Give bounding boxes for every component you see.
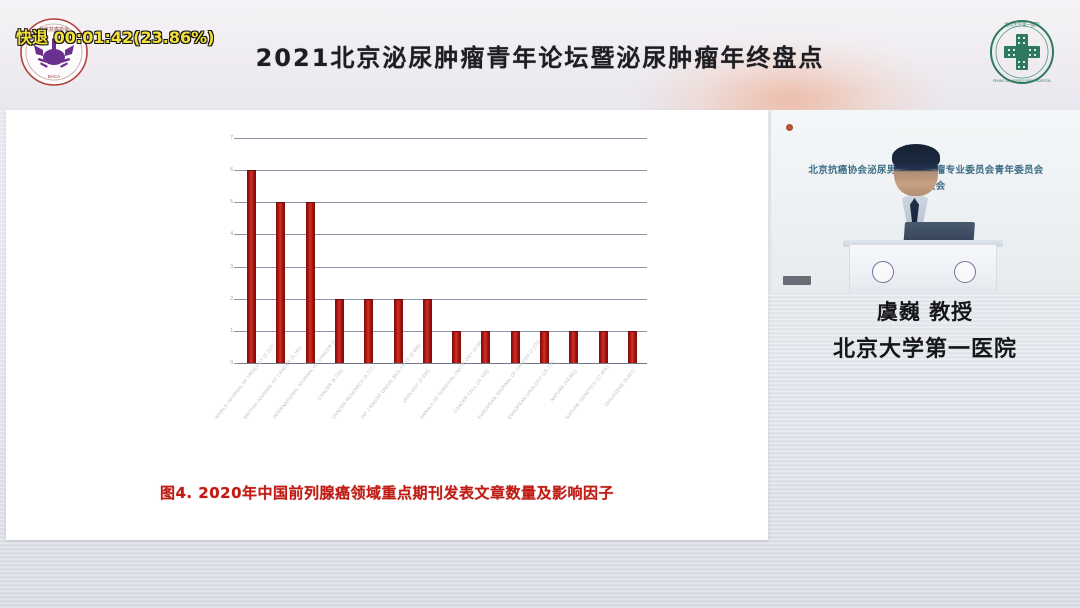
y-axis-tick-label: 6 [217,167,233,173]
y-axis-tick-mark [234,202,238,203]
speaker-affiliation: 北京大学第一医院 [770,331,1080,363]
y-axis-tick-mark [234,234,238,235]
y-axis-tick-mark [234,267,238,268]
chart-gridline [237,363,647,364]
recording-dot-icon [786,124,793,131]
y-axis-tick-label: 3 [217,264,233,270]
bar-chart: 01234567WORLD JOURNAL OF UROLOGY (2.237)… [211,138,651,468]
chart-bar [306,202,315,363]
chart-gridline [237,331,647,332]
y-axis-tick-label: 2 [217,296,233,302]
svg-text:北京大学第一医院: 北京大学第一医院 [1004,21,1040,28]
glasses-icon [899,170,933,178]
speaker-name: 虞巍 教授 [770,296,1080,326]
podium [849,244,997,293]
chart-bar [628,331,637,363]
figure-caption: 图4. 2020年中国前列腺癌领域重点期刊发表文章数量及影响因子 [6,482,768,503]
presentation-slide: 01234567WORLD JOURNAL OF UROLOGY (2.237)… [6,110,768,540]
chart-bar [423,299,432,363]
chart-bar [452,331,461,363]
peking-university-first-hospital-logo: 北京大学第一医院 PEKING UNIVERSITY FIRST HOSPITA… [982,12,1062,92]
y-axis-tick-mark [234,170,238,171]
speaker-video-panel[interactable]: 单位 北京抗癌协会泌尿男生殖系肿瘤专业委员会青年委员会 成立大会 [770,110,1080,293]
y-axis-tick-label: 5 [217,199,233,205]
chart-gridline [237,234,647,235]
y-axis-tick-label: 0 [217,360,233,366]
y-axis-tick-mark [234,363,238,364]
chart-bar [276,202,285,363]
y-axis-tick-mark [234,331,238,332]
chart-bar [394,299,403,363]
chart-bar [511,331,520,363]
chart-bar [364,299,373,363]
podium-seal-left-icon [872,261,894,283]
podium-seal-right-icon [954,261,976,283]
video-controls-overlay[interactable] [783,276,811,285]
chart-bar [569,331,578,363]
speaker-hair [892,144,940,170]
chart-bar [599,331,608,363]
y-axis-tick-label: 1 [217,328,233,334]
y-axis-tick-mark [234,299,238,300]
page-title: 2021北京泌尿肿瘤青年论坛暨泌尿肿瘤年终盘点 [0,0,1080,110]
chart-bar [481,331,490,363]
chart-bar [335,299,344,363]
chart-bar [247,170,256,363]
y-axis-tick-mark [234,138,238,139]
slide-header-band: 2021北京泌尿肿瘤青年论坛暨泌尿肿瘤年终盘点 [0,0,1080,110]
speaker-caption: 虞巍 教授 北京大学第一医院 [770,296,1080,363]
y-axis-tick-label: 4 [217,231,233,237]
svg-text:PEKING UNIVERSITY FIRST HOSPIT: PEKING UNIVERSITY FIRST HOSPITAL [993,79,1052,83]
svg-text:BACA: BACA [48,74,60,79]
y-axis-tick-label: 7 [217,135,233,141]
chart-gridline [237,299,647,300]
chart-bar [540,331,549,363]
chart-plot-area: 01234567WORLD JOURNAL OF UROLOGY (2.237)… [237,138,647,363]
chart-gridline [237,138,647,139]
chart-gridline [237,267,647,268]
chart-gridline [237,202,647,203]
chart-gridline [237,170,647,171]
rewind-osd-label: 快退 00:01:42(23.86%) [16,24,214,48]
